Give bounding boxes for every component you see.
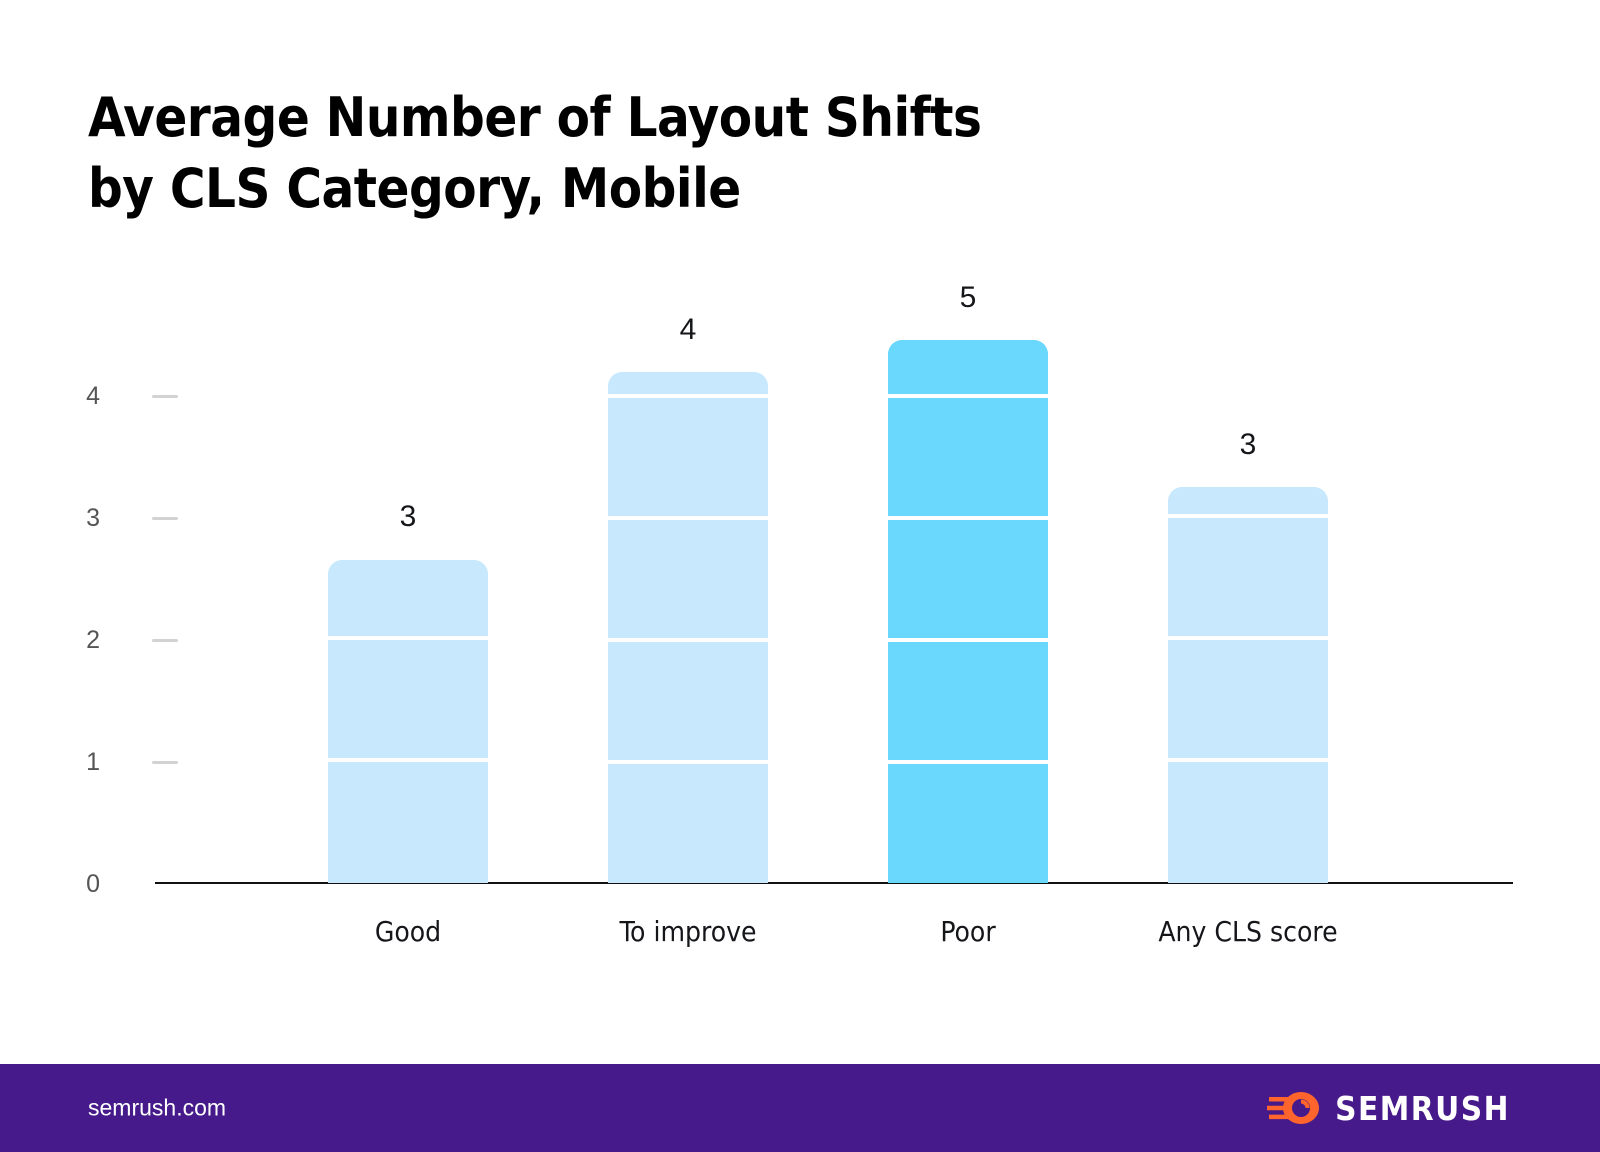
y-axis-tick-dash bbox=[152, 761, 178, 764]
y-axis-tick-label-0: 0 bbox=[60, 872, 100, 896]
bar-segment-line bbox=[1168, 758, 1328, 762]
bar-segment-line bbox=[608, 760, 768, 764]
x-axis-label-poor: Poor bbox=[870, 915, 1066, 948]
y-axis-tick-dash bbox=[152, 395, 178, 398]
bar-value-any-cls-score: 3 bbox=[1168, 428, 1328, 462]
bar-value-to-improve: 4 bbox=[608, 313, 768, 347]
bar-segment-line bbox=[328, 758, 488, 762]
bar-segment-line bbox=[1168, 636, 1328, 640]
bar-poor[interactable] bbox=[888, 340, 1048, 883]
y-axis-tick-label-3: 3 bbox=[60, 506, 100, 530]
bar-good[interactable] bbox=[328, 560, 488, 883]
bar-chart: 4 3 2 1 0 3 Good 4 To improve 5 Poor bbox=[0, 0, 1600, 1000]
y-axis-tick-dash bbox=[152, 517, 178, 520]
bar-value-good: 3 bbox=[328, 500, 488, 534]
y-axis-tick-label-1: 1 bbox=[60, 750, 100, 774]
y-axis-tick-dash bbox=[152, 639, 178, 642]
semrush-comet-icon bbox=[1267, 1088, 1321, 1128]
x-axis-label-good: Good bbox=[310, 915, 506, 948]
semrush-logo[interactable]: SEMRUSH bbox=[1267, 1088, 1510, 1128]
bar-segment-line bbox=[328, 636, 488, 640]
bar-segment-line bbox=[888, 394, 1048, 398]
bar-segment-line bbox=[888, 760, 1048, 764]
bar-segment-line bbox=[608, 394, 768, 398]
bar-segment-line bbox=[888, 516, 1048, 520]
footer-url[interactable]: semrush.com bbox=[88, 1095, 226, 1122]
bar-to-improve[interactable] bbox=[608, 372, 768, 883]
x-axis-label-any-cls-score: Any CLS score bbox=[1140, 915, 1356, 948]
x-axis-label-to-improve: To improve bbox=[590, 915, 786, 948]
bar-any-cls-score[interactable] bbox=[1168, 487, 1328, 883]
bar-segment-line bbox=[888, 638, 1048, 642]
y-axis-tick-label-4: 4 bbox=[60, 384, 100, 408]
bar-value-poor: 5 bbox=[888, 281, 1048, 315]
bar-segment-line bbox=[608, 638, 768, 642]
bar-segment-line bbox=[1168, 514, 1328, 518]
footer-bar: semrush.com SEMRUSH bbox=[0, 1064, 1600, 1152]
y-axis-tick-label-2: 2 bbox=[60, 628, 100, 652]
bar-segment-line bbox=[608, 516, 768, 520]
semrush-wordmark: SEMRUSH bbox=[1335, 1089, 1510, 1128]
